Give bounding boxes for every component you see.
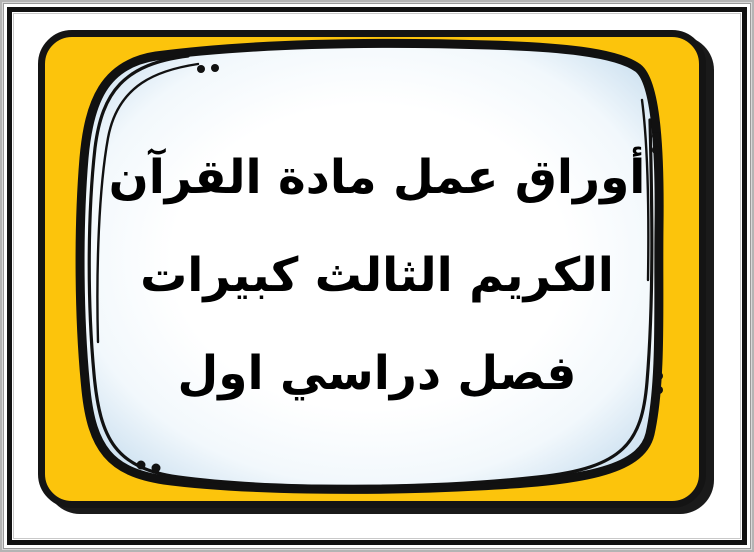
inner-panel-drawing: [38, 30, 706, 508]
dots-top-right-b: [652, 146, 660, 154]
panel-fill: [80, 43, 659, 489]
dots-top-right-a: [652, 132, 660, 140]
inner-panel-wrapper: [38, 30, 706, 508]
worksheet-cover-canvas: أوراق عمل مادة القرآن الكريم الثالث كبير…: [0, 0, 754, 552]
dots-top-left-a: [197, 65, 205, 73]
dots-top-left-b: [211, 64, 219, 72]
dots-bottom-left-b: [152, 464, 161, 473]
dots-bottom-left-a: [137, 461, 146, 470]
dots-right-lower-a: [655, 372, 663, 380]
dots-right-lower-b: [655, 386, 663, 394]
